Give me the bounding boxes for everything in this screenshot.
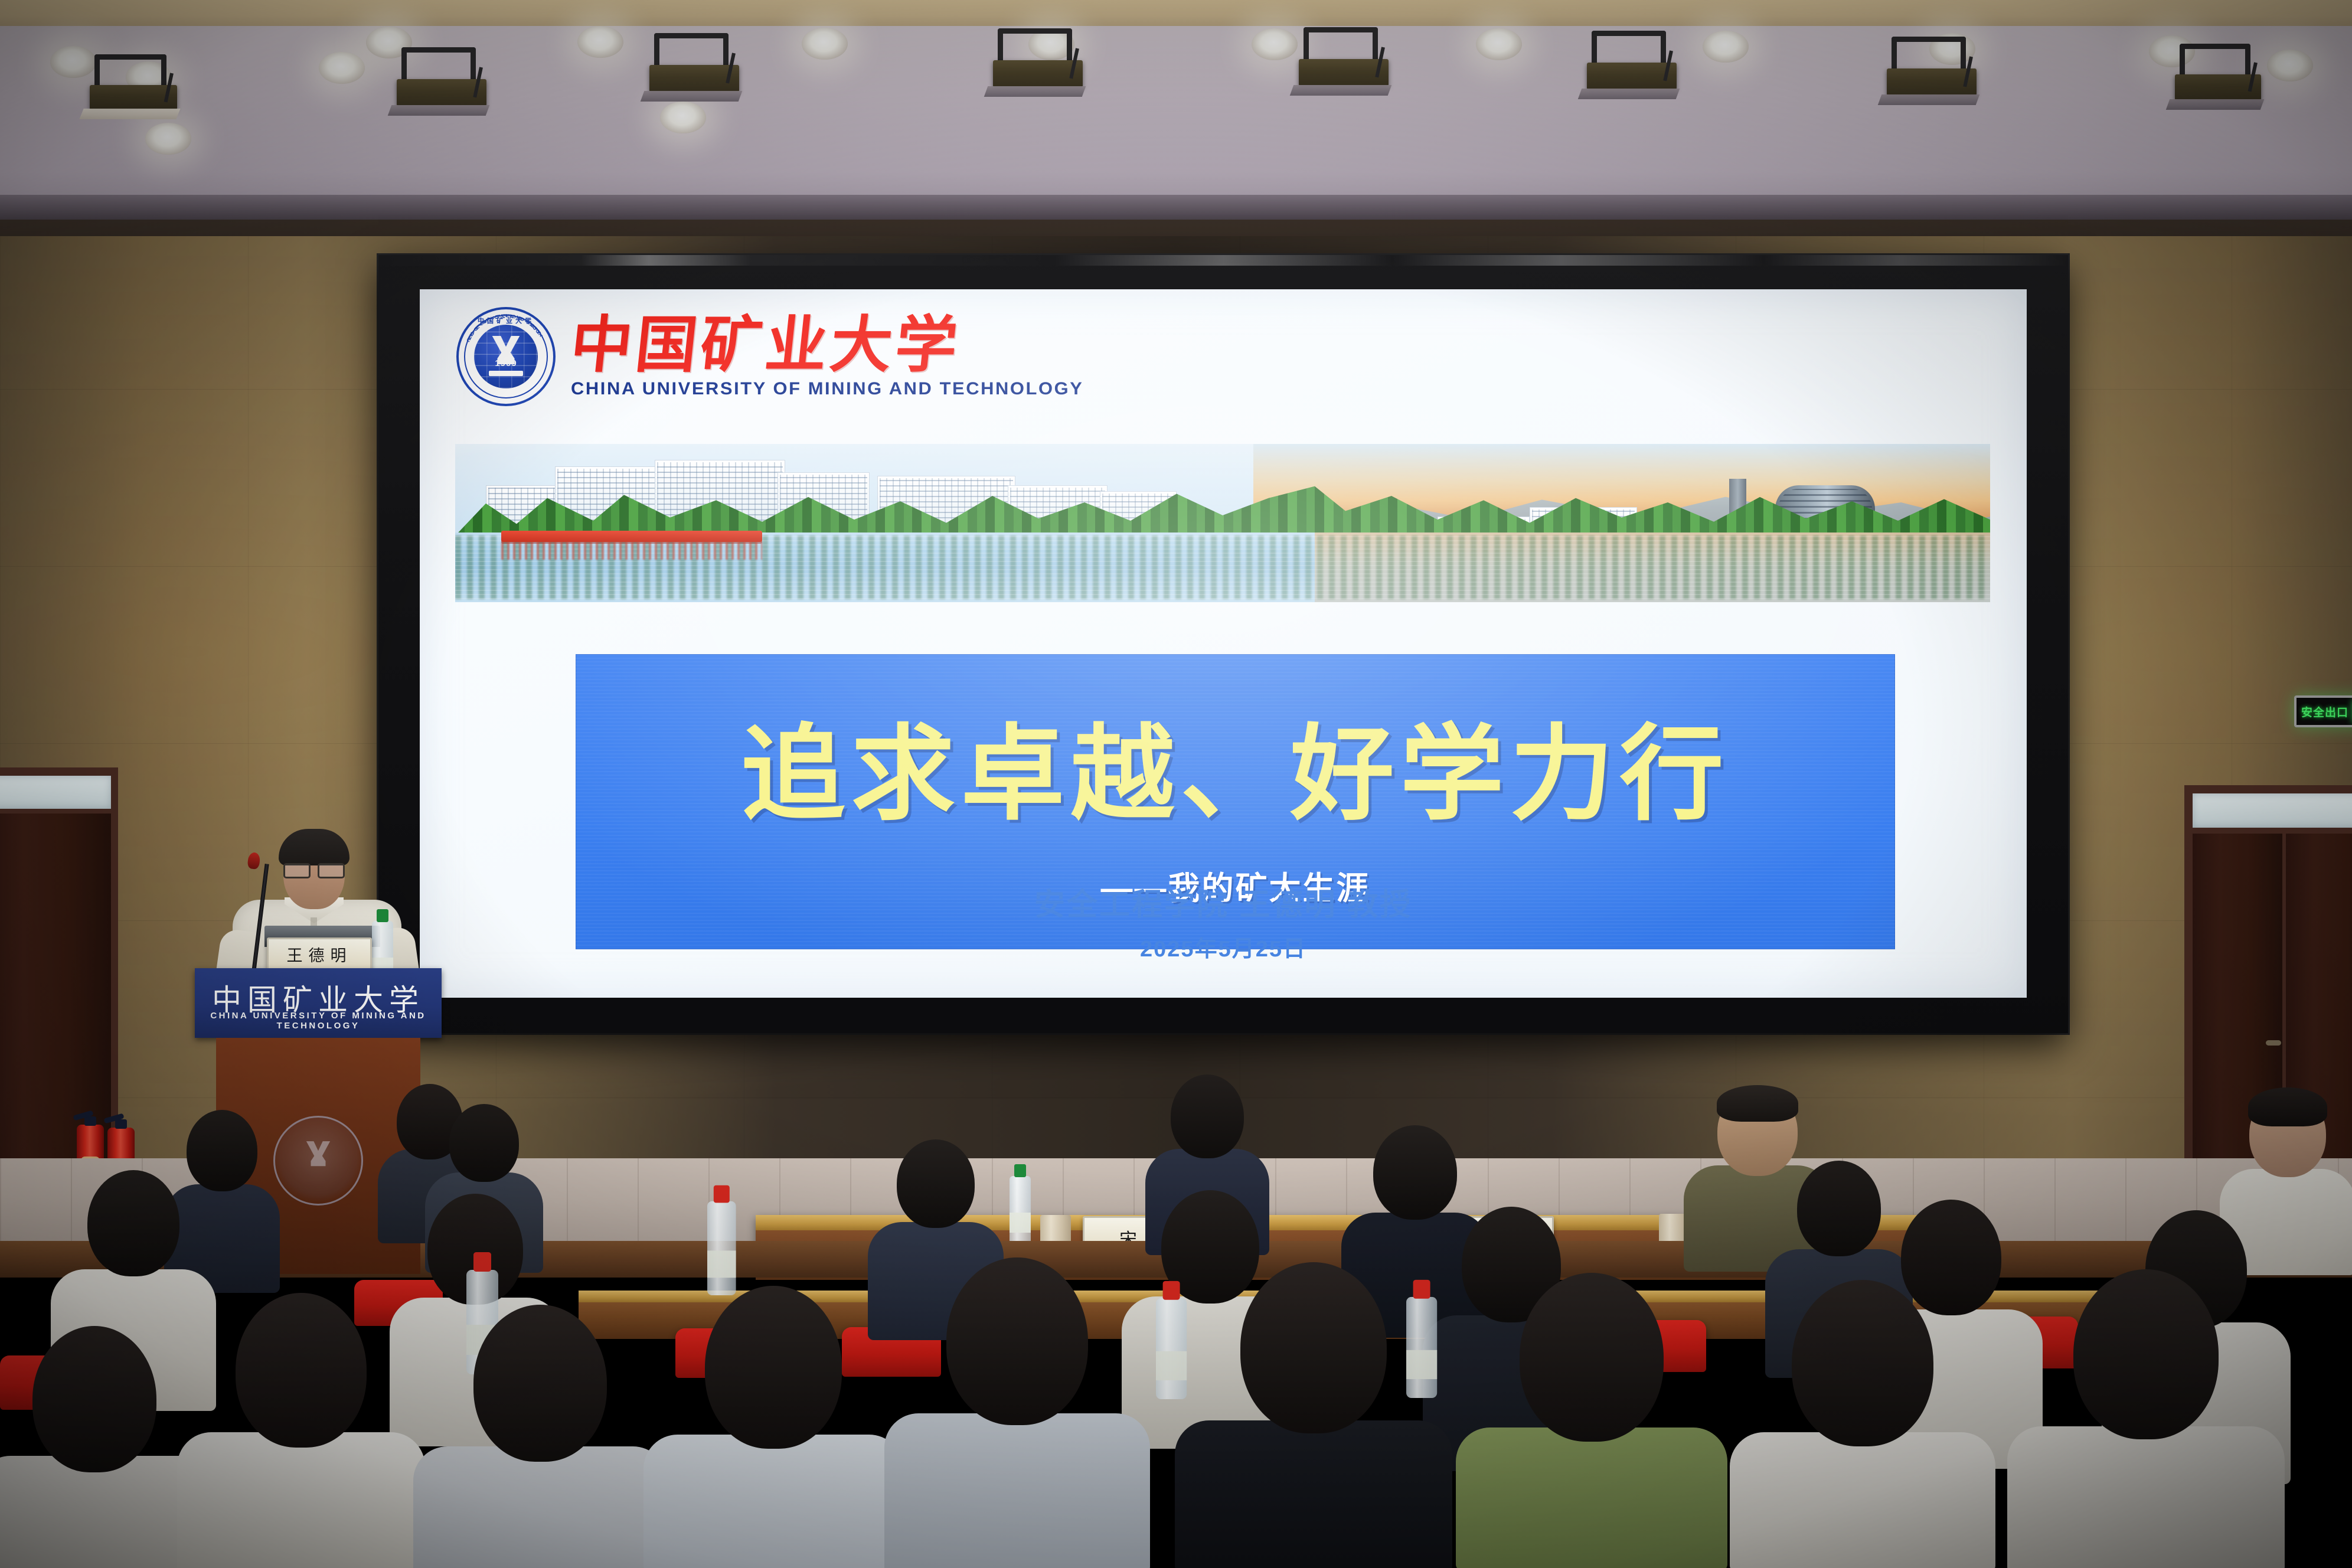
audience-head: [1240, 1262, 1387, 1433]
podium-nameplate: 王德明: [267, 937, 372, 971]
presentation-slide[interactable]: 中国矿业大学 1909 CHINA UNIVERSITY OF MINING A…: [420, 289, 2027, 998]
ceiling-downlight: [660, 102, 706, 133]
campus-panorama-image: [455, 444, 1990, 602]
ceiling-downlight: [2267, 50, 2313, 81]
bottle-body: [1010, 1176, 1031, 1246]
emergency-exit-sign: 安全出口 EXIT: [2294, 695, 2352, 727]
bezel-specular-highlight: [378, 255, 2068, 266]
ceiling-downlight: [145, 123, 191, 155]
ceiling-downlight: [1476, 28, 1522, 60]
audience-member-front-row: [643, 1286, 903, 1568]
ceiling-downlight: [50, 46, 96, 78]
audience-torso: [643, 1435, 903, 1568]
extinguisher-neck: [115, 1119, 127, 1129]
audience-head: [32, 1326, 156, 1472]
water-bottle: [1010, 1176, 1031, 1246]
slide-date-line: 2025年5月25日: [420, 930, 2027, 963]
podium-university-name-en: CHINA UNIVERSITY OF MINING AND TECHNOLOG…: [195, 1011, 442, 1031]
left-door-transom-window: [0, 776, 111, 809]
audience-head: [449, 1104, 519, 1182]
podium-nameplate-text: 王德明: [287, 943, 352, 966]
audience-head: [705, 1286, 842, 1449]
audience-head: [1373, 1125, 1457, 1220]
audience-torso: [884, 1413, 1150, 1568]
audience-head: [1171, 1074, 1244, 1158]
speaker-glasses-icon: [283, 863, 345, 875]
university-name-en: CHINA UNIVERSITY OF MINING AND TECHNOLOG…: [571, 379, 1083, 399]
bottle-label: [1010, 1213, 1031, 1233]
ceiling-downlight: [577, 26, 623, 58]
lecture-hall-scene: 安全出口 EXIT 中国矿业大学 1909 CHINA UNIVERSITY O…: [0, 0, 2352, 1568]
ceiling-downlight: [1703, 31, 1749, 63]
slide-main-title: 追求卓越、好学力行: [576, 723, 1895, 827]
podium-front-panel: 中国矿业大学 CHINA UNIVERSITY OF MINING AND TE…: [195, 968, 442, 1038]
ceiling-downlight: [319, 52, 365, 84]
podium-crest-seal-icon: [273, 1116, 363, 1206]
audience-torso: [413, 1446, 667, 1568]
audience-hair: [2248, 1087, 2327, 1126]
audience-member-front-row: [1456, 1273, 1727, 1568]
speaker-hair: [279, 829, 349, 865]
audience-member-front-row: [177, 1293, 425, 1568]
projection-screen-bezel: 中国矿业大学 1909 CHINA UNIVERSITY OF MINING A…: [378, 255, 2068, 1033]
audience-torso: [2007, 1426, 2285, 1568]
audience-torso: [1175, 1420, 1452, 1568]
right-door-handle[interactable]: [2266, 1040, 2281, 1046]
slide-logo-row: 中国矿业大学 1909 CHINA UNIVERSITY OF MINING A…: [456, 307, 1069, 406]
university-crest-icon: 中国矿业大学 1909 CHINA UNIVERSITY OF MINING A…: [456, 307, 556, 406]
audience-hair: [1717, 1085, 1798, 1122]
water-bottle: [707, 1201, 736, 1295]
ceiling-cove-band: [0, 0, 2352, 28]
bottle-cap: [1014, 1164, 1026, 1177]
audience-member-front-row-hoodie: [1175, 1262, 1452, 1568]
audience-member-front-row: [1730, 1280, 1995, 1568]
extinguisher-neck: [84, 1116, 96, 1126]
slide-logo-text: 中国矿业大学 CHINA UNIVERSITY OF MINING AND TE…: [571, 314, 1069, 399]
bottle-cap: [377, 909, 388, 922]
audience-member-front-row: [413, 1305, 667, 1568]
bottle-cap: [473, 1252, 491, 1272]
audience-head: [2073, 1269, 2219, 1439]
audience-torso: [177, 1432, 425, 1568]
audience-head: [946, 1257, 1088, 1425]
audience-torso: [1730, 1432, 1995, 1568]
audience-member-front-row: [2007, 1269, 2285, 1568]
university-name-cn: 中国矿业大学: [568, 314, 1072, 375]
audience-torso: [1456, 1427, 1727, 1568]
bottle-body: [707, 1201, 736, 1295]
slide-presenter-line: 安全工程学院 王德明 教授: [420, 880, 2027, 924]
bottle-cap: [714, 1185, 730, 1203]
exit-sign-label-cn: 安全出口: [2301, 704, 2348, 720]
ceiling-downlight: [1252, 28, 1298, 60]
crest-ring-text-en: CHINA UNIVERSITY OF MINING AND TECHNOLOG…: [456, 307, 556, 406]
panorama-red-bridge: [501, 531, 762, 542]
audience-head: [473, 1305, 607, 1462]
ceiling-downlight: [802, 28, 848, 60]
audience-member-front-row: [884, 1257, 1150, 1568]
bottle-label: [707, 1250, 736, 1278]
audience-head: [1792, 1280, 1933, 1446]
audience-head: [236, 1293, 367, 1448]
audience-head: [897, 1139, 975, 1228]
right-door-transom-window: [2193, 793, 2352, 828]
audience-head: [1520, 1273, 1664, 1442]
audience-head: [87, 1170, 179, 1276]
